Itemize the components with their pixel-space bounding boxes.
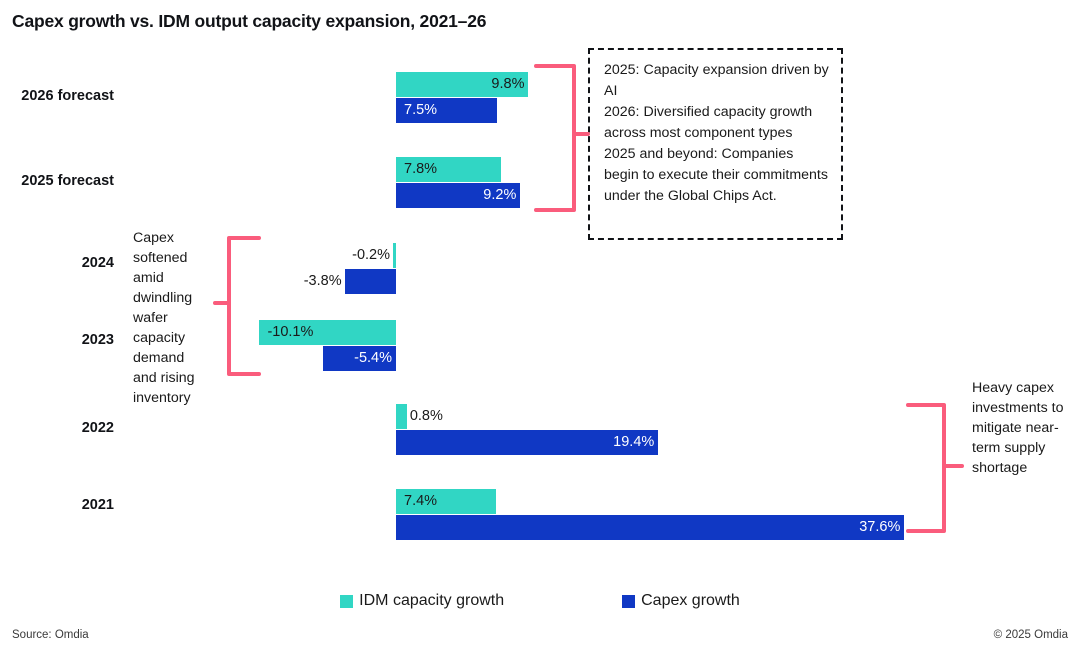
copyright-label: © 2025 Omdia [994,629,1068,641]
bar-value-2022-idm: 0.8% [410,404,443,429]
bar-value-2023-idm: -10.1% [267,320,313,345]
legend-swatch-icon-teal [340,595,353,608]
bar-2024-idm[interactable] [393,243,396,268]
upcycle-note-text: Heavy capex investments to mitigate near… [972,378,1067,478]
legend-item-capex-growth[interactable]: Capex growth [622,592,740,610]
bar-value-2024-capex: -3.8% [294,269,342,294]
legend-swatch-icon-blue [622,595,635,608]
bar-value-2025-forecast-capex: 9.2% [477,183,516,208]
chart-legend: IDM capacity growth Capex growth [0,592,1080,610]
category-label-2022: 2022 [2,420,114,436]
callout-line-1: 2025: Capacity expansion driven by AI [604,60,829,102]
callout-line-2: 2026: Diversified capacity growth across… [604,102,829,144]
downturn-bracket-icon [213,235,261,377]
category-label-2024: 2024 [2,255,114,271]
callout-line-3: 2025 and beyond: Companies begin to exec… [604,144,829,207]
category-label-2021: 2021 [2,497,114,513]
upcycle-bracket-icon [906,402,964,534]
legend-label-capex-growth: Capex growth [641,592,740,610]
bar-value-2022-capex: 19.4% [607,430,655,455]
source-label: Source: Omdia [12,629,89,641]
bar-value-2026-forecast-capex: 7.5% [404,98,437,123]
bar-2024-capex[interactable] [345,269,396,294]
downturn-note-text: Capex softened amid dwindling wafer capa… [133,228,211,408]
forecast-callout-box: 2025: Capacity expansion driven by AI 20… [588,48,843,240]
category-label-2025-forecast: 2025 forecast [2,173,114,189]
bar-value-2026-forecast-idm: 9.8% [485,72,524,97]
bar-value-2021-idm: 7.4% [404,489,437,514]
bar-value-2025-forecast-idm: 7.8% [404,157,437,182]
category-label-2023: 2023 [2,332,114,348]
chart-footer: Source: Omdia © 2025 Omdia [0,629,1080,641]
forecast-bracket-icon [534,62,590,214]
category-label-2026-forecast: 2026 forecast [2,88,114,104]
bar-value-2023-capex: -5.4% [345,346,393,371]
legend-label-idm-capacity-growth: IDM capacity growth [359,592,504,610]
legend-item-idm-capacity-growth[interactable]: IDM capacity growth [340,592,504,610]
bar-value-2024-idm: -0.2% [343,243,391,268]
bar-value-2021-capex: 37.6% [853,515,901,540]
chart-page: Capex growth vs. IDM output capacity exp… [0,0,1080,650]
bar-2022-idm[interactable] [396,404,407,429]
bar-2021-capex[interactable] [396,515,904,540]
